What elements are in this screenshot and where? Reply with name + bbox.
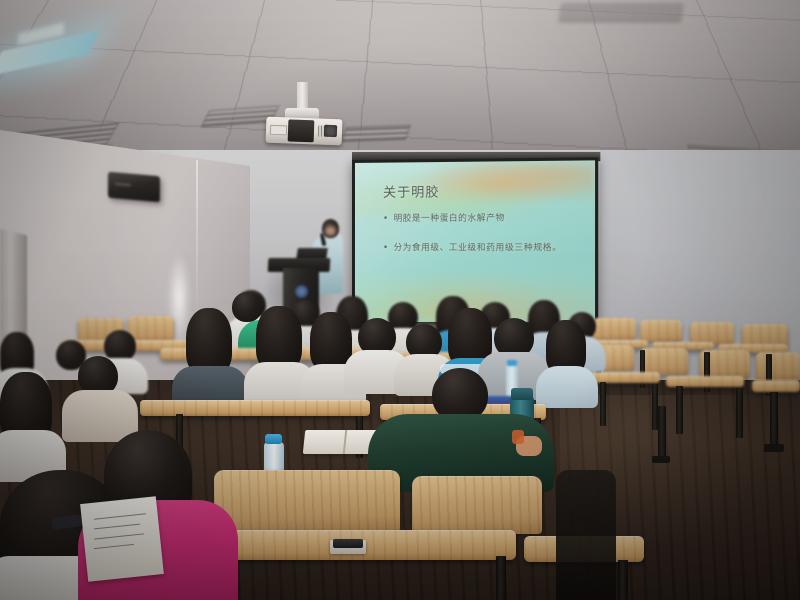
slide-title: 关于明胶 <box>383 181 439 201</box>
bullet-marker: • <box>383 243 389 253</box>
podium-emblem <box>295 285 308 298</box>
student-body <box>536 366 598 408</box>
projector-body-shadow <box>288 119 315 142</box>
projection-screen-frame: 关于明胶 •明胶是一种蛋白的水解产物 •分为食用级、工业级和药用级三种规格。 <box>352 157 598 328</box>
desk <box>140 400 370 416</box>
chair-back <box>592 318 636 340</box>
desk-leg <box>736 388 743 438</box>
chair-back <box>640 348 688 375</box>
student-head <box>232 292 262 322</box>
projector-badge <box>270 125 287 136</box>
slide-bullet-1-text: 明胶是一种蛋白的水解产物 <box>394 214 505 224</box>
projection-screen: 关于明胶 •明胶是一种蛋白的水解产物 •分为食用级、工业级和药用级三种规格。 <box>355 160 595 324</box>
bottle-cap-icon <box>507 360 517 366</box>
shirt-logo <box>512 430 524 444</box>
chair-back <box>756 352 800 381</box>
chair-back <box>412 476 542 534</box>
projector-icon <box>266 117 343 146</box>
projector-lens-icon <box>324 125 337 137</box>
presenter-face <box>325 226 336 236</box>
slide-bullet-2-text: 分为食用级、工业级和药用级三种规格。 <box>394 243 562 253</box>
lecture-hall-photo: 关于明胶 •明胶是一种蛋白的水解产物 •分为食用级、工业级和药用级三种规格。 <box>0 0 800 600</box>
desk-leg <box>496 556 506 600</box>
slide-bullet-1: •明胶是一种蛋白的水解产物 <box>383 212 505 225</box>
bullet-marker: • <box>383 214 389 224</box>
desk-foot <box>764 444 784 452</box>
chair-back <box>128 316 174 342</box>
desk-leg <box>618 560 628 600</box>
thermos-cap-icon <box>511 388 533 400</box>
ceiling-air-vent <box>341 125 411 142</box>
desk-leg <box>770 392 778 448</box>
desk-leg <box>600 382 606 426</box>
bottle-cap-icon <box>265 434 282 444</box>
chair-back <box>640 320 682 342</box>
desk <box>752 380 800 392</box>
student-head <box>256 306 302 370</box>
desk-leg <box>658 406 666 460</box>
desk-leg <box>676 386 683 434</box>
wall-speaker-icon <box>108 172 160 203</box>
desk-foot <box>652 456 670 463</box>
student-head <box>186 308 232 374</box>
student-body <box>556 470 616 600</box>
paper-handout-icon <box>80 496 164 582</box>
ceiling-air-vent <box>559 4 684 22</box>
chair-back <box>214 470 400 532</box>
slide-bullet-2: •分为食用级、工业级和药用级三种规格。 <box>383 241 562 253</box>
mobile-phone-icon <box>333 539 363 548</box>
